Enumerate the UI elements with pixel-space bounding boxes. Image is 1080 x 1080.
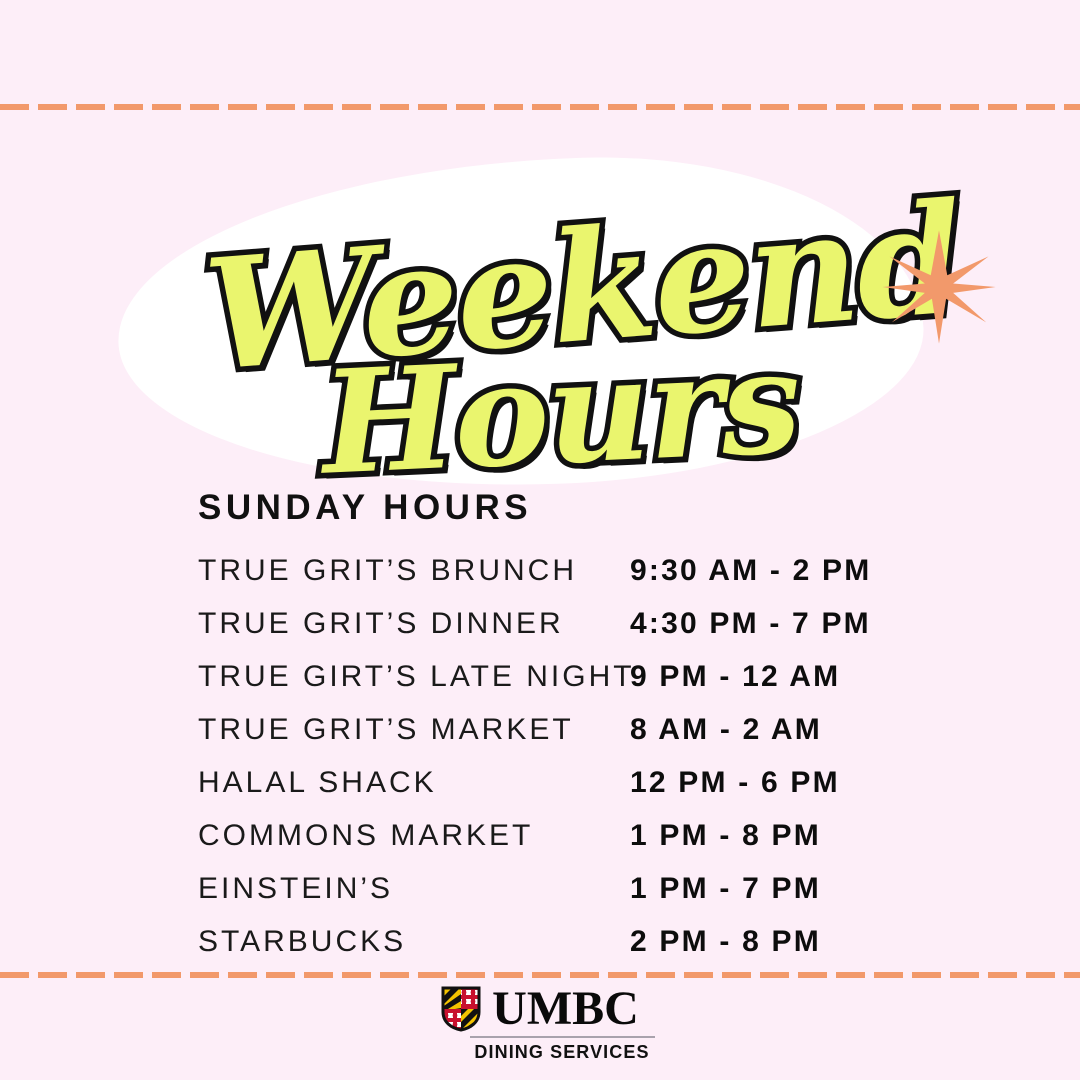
schedule-row: COMMONS MARKET 1 PM - 8 PM [198,819,938,872]
schedule-row-time: 1 PM - 7 PM [630,872,821,906]
title-blob-shape [113,146,929,499]
schedule-row: HALAL SHACK 12 PM - 6 PM [198,766,938,819]
section-title-sunday-hours: SUNDAY HOURS [198,488,938,528]
schedule-row: TRUE GIRT’S LATE NIGHT 9 PM - 12 AM [198,660,938,713]
schedule-row: STARBUCKS 2 PM - 8 PM [198,925,938,978]
logo-subtitle: DINING SERVICES [474,1042,649,1063]
schedule-section: SUNDAY HOURS TRUE GRIT’S BRUNCH 9:30 AM … [198,488,938,978]
logo-lockup: UMBC [441,986,639,1032]
schedule-row-label: COMMONS MARKET [198,819,630,853]
logo-divider [470,1036,655,1038]
schedule-row: EINSTEIN’S 1 PM - 7 PM [198,872,938,925]
schedule-row-label: TRUE GRIT’S BRUNCH [198,554,630,588]
schedule-row-label: TRUE GRIT’S MARKET [198,713,630,747]
schedule-row: TRUE GRIT’S DINNER 4:30 PM - 7 PM [198,607,938,660]
umbc-wordmark: UMBC [492,986,639,1032]
schedule-row-label: HALAL SHACK [198,766,630,800]
schedule-row-label: EINSTEIN’S [198,872,630,906]
umbc-dining-services-logo: UMBC DINING SERVICES [0,986,1080,1063]
schedule-row-label: TRUE GIRT’S LATE NIGHT [198,660,630,694]
schedule-row-label: STARBUCKS [198,925,630,959]
sparkle-star-icon [880,228,998,346]
schedule-row-label: TRUE GRIT’S DINNER [198,607,630,641]
schedule-row: TRUE GRIT’S MARKET 8 AM - 2 AM [198,713,938,766]
schedule-row-time: 8 AM - 2 AM [630,713,822,747]
schedule-row-time: 2 PM - 8 PM [630,925,821,959]
schedule-row-time: 9:30 AM - 2 PM [630,554,871,588]
top-dashed-rule [0,104,1080,110]
bottom-dashed-rule [0,972,1080,978]
umbc-maryland-shield-icon [441,986,481,1032]
schedule-row-time: 12 PM - 6 PM [630,766,840,800]
schedule-row-time: 1 PM - 8 PM [630,819,821,853]
schedule-row-time: 9 PM - 12 AM [630,660,840,694]
schedule-row: TRUE GRIT’S BRUNCH 9:30 AM - 2 PM [198,554,938,607]
schedule-row-time: 4:30 PM - 7 PM [630,607,871,641]
